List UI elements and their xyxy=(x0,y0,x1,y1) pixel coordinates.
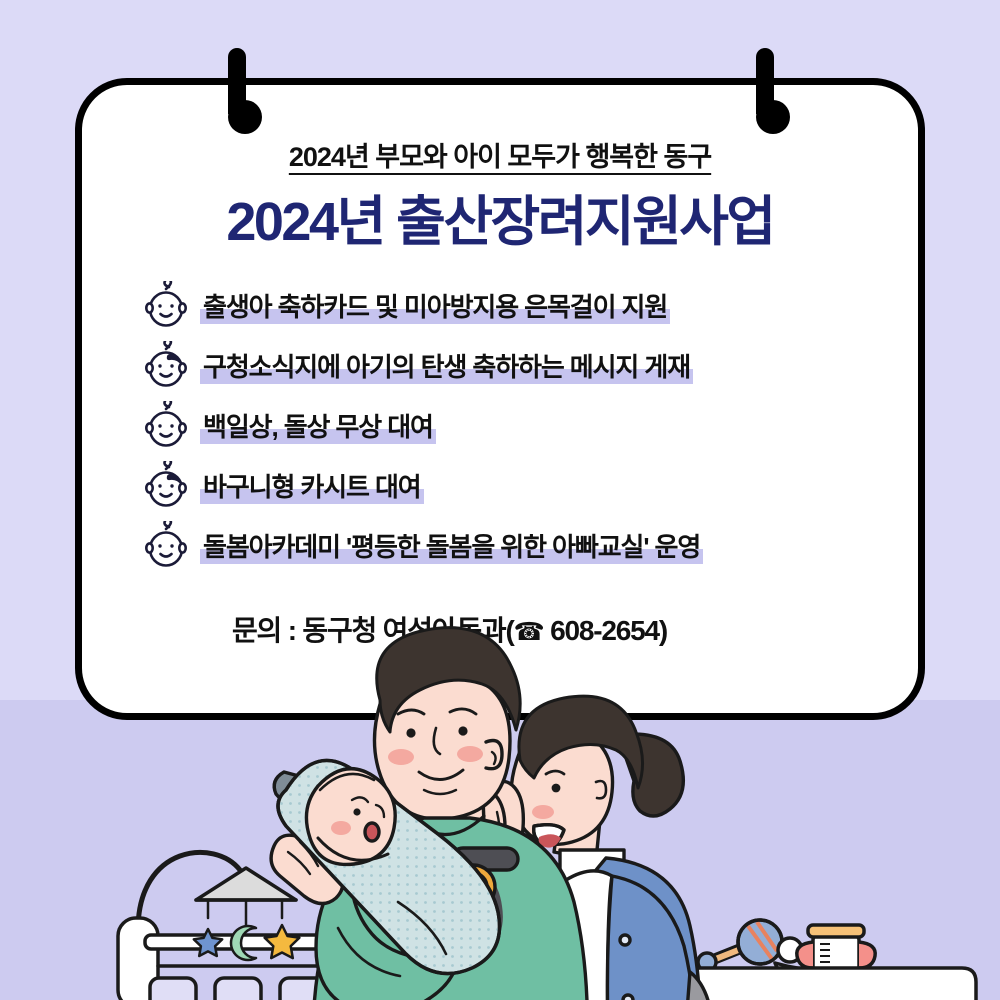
poster-root: 2024년 부모와 아이 모두가 행복한 동구 2024년 출산장려지원사업 xyxy=(0,0,1000,1000)
list-item-label: 출생아 축하카드 및 미아방지용 은목걸이 지원 xyxy=(200,293,670,322)
baby-face-icon xyxy=(140,281,192,333)
side-table-with-toys xyxy=(686,920,976,1000)
contact-phone: 608-2654) xyxy=(544,615,667,646)
baby-face-icon xyxy=(140,401,192,453)
rattle-toy xyxy=(698,920,782,971)
pin-knob xyxy=(756,100,790,134)
list-item-label: 구청소식지에 아기의 탄생 축하하는 메시지 게재 xyxy=(200,353,693,382)
sippy-cup xyxy=(797,925,875,970)
page-title: 2024년 출산장려지원사업 xyxy=(82,177,918,256)
contact-label: 문의 : 동구청 여성아동과( xyxy=(232,615,514,646)
card-subtitle: 2024년 부모와 아이 모두가 행복한 동구 xyxy=(82,135,918,174)
contact-line: 문의 : 동구청 여성아동과(☎ 608-2654) xyxy=(232,609,667,649)
pin-left xyxy=(228,48,246,134)
mother-figure xyxy=(443,696,712,1000)
list-item: 돌봄아카데미 '평등한 돌봄을 위한 아빠교실' 운영 xyxy=(140,517,888,577)
swaddled-baby xyxy=(274,760,499,973)
list-item-label: 돌봄아카데미 '평등한 돌봄을 위한 아빠교실' 운영 xyxy=(200,533,703,562)
crib-with-mobile xyxy=(118,852,445,1000)
list-item: 출생아 축하카드 및 미아방지용 은목걸이 지원 xyxy=(140,277,888,337)
info-card: 2024년 부모와 아이 모두가 행복한 동구 2024년 출산장려지원사업 xyxy=(75,78,925,720)
benefit-list: 출생아 축하카드 및 미아방지용 은목걸이 지원 xyxy=(140,277,888,577)
baby-face-hair-icon xyxy=(140,461,192,513)
list-item-label: 백일상, 돌상 무상 대여 xyxy=(200,413,436,442)
list-item-label: 바구니형 카시트 대여 xyxy=(200,473,424,502)
baby-face-hair-icon xyxy=(140,341,192,393)
list-item: 바구니형 카시트 대여 xyxy=(140,457,888,517)
pin-right xyxy=(756,48,774,134)
list-item: 구청소식지에 아기의 탄생 축하하는 메시지 게재 xyxy=(140,337,888,397)
telephone-icon: ☎ xyxy=(514,618,544,646)
pin-knob xyxy=(228,100,262,134)
list-item: 백일상, 돌상 무상 대여 xyxy=(140,397,888,457)
baby-face-icon xyxy=(140,521,192,573)
